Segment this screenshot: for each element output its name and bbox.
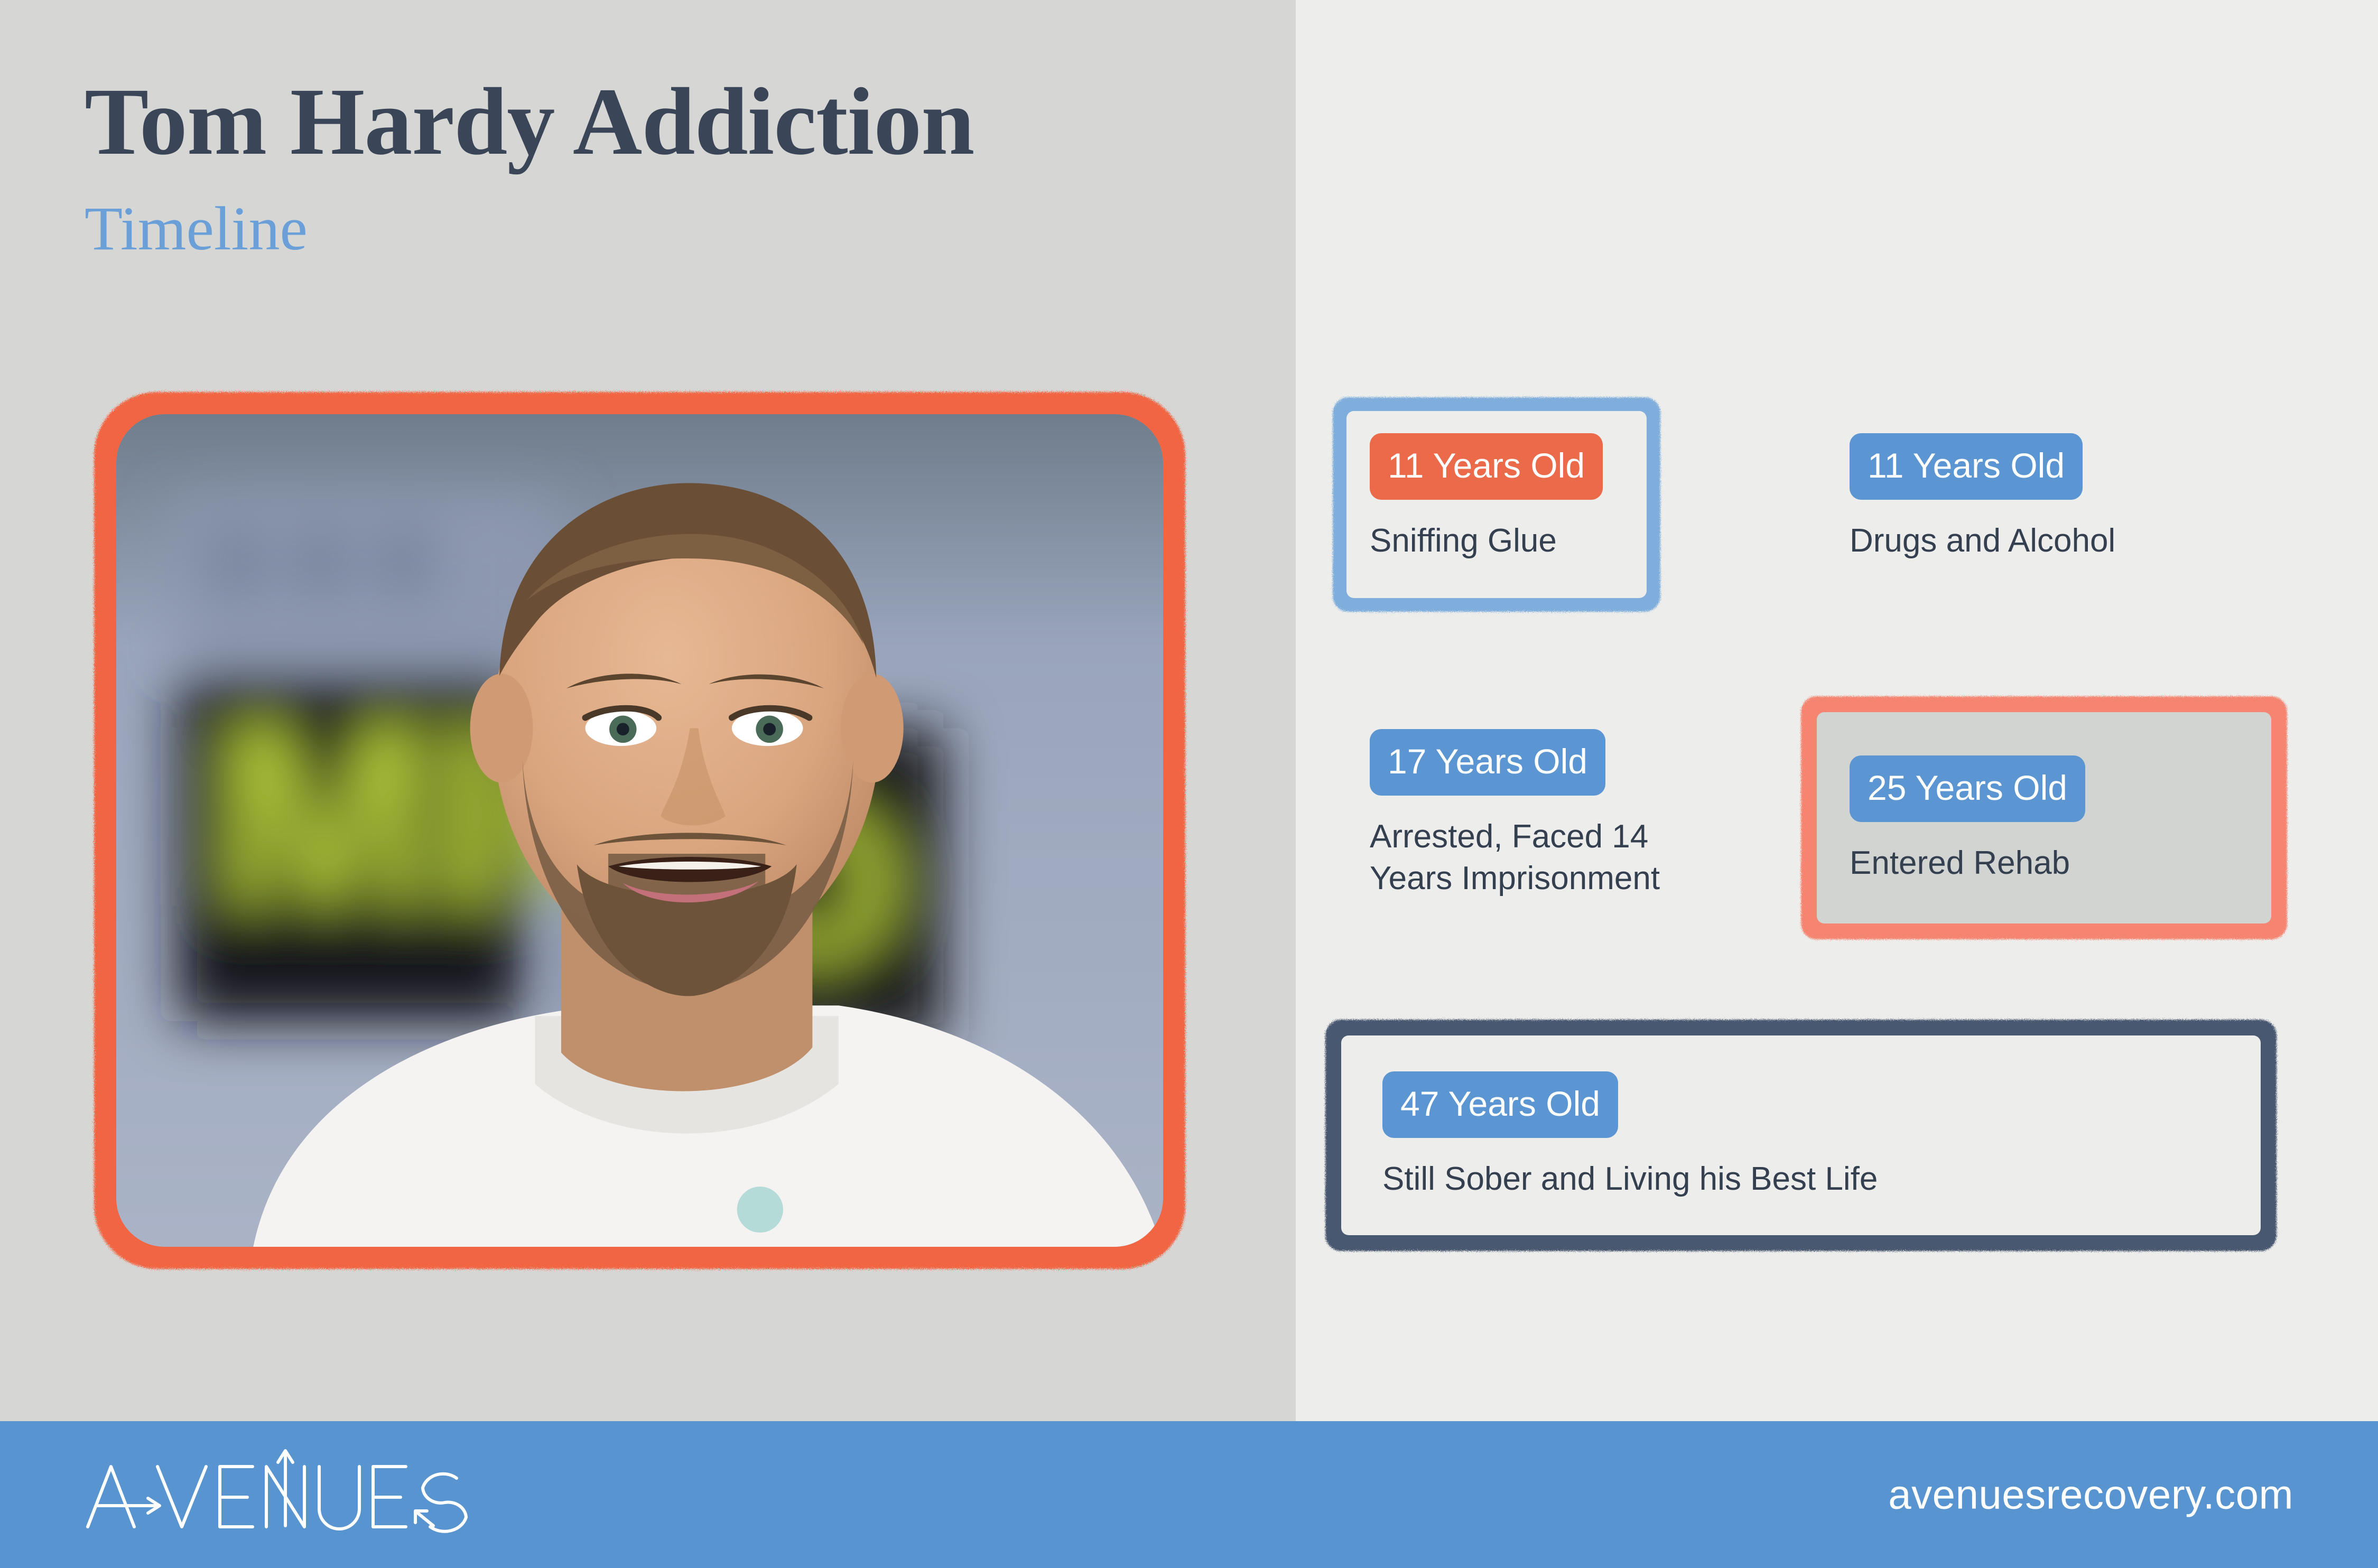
footer-bar: avenuesrecovery.com	[0, 1421, 2378, 1568]
card-description: Arrested, Faced 14 Years Imprisonment	[1370, 816, 1792, 900]
age-badge: 11 Years Old	[1370, 433, 1603, 500]
card-description: Drugs and Alcohol	[1850, 520, 2251, 562]
age-badge: 17 Years Old	[1370, 729, 1605, 796]
age-badge: 25 Years Old	[1850, 755, 2085, 822]
timeline-card-1: 11 Years Old Sniffing Glue	[1333, 397, 1660, 612]
age-badge: 11 Years Old	[1850, 433, 2083, 500]
card-description: Still Sober and Living his Best Life	[1382, 1158, 2245, 1200]
age-badge: 47 Years Old	[1382, 1071, 1618, 1138]
heading-block: Tom Hardy Addiction Timeline	[85, 74, 1247, 260]
page-title: Tom Hardy Addiction	[85, 74, 1247, 170]
card-description: Entered Rehab	[1850, 842, 2266, 884]
card-content: 11 Years Old Drugs and Alcohol	[1850, 433, 2251, 562]
avenues-logo-mark	[78, 1448, 480, 1543]
avenues-logo	[78, 1448, 480, 1543]
portrait-photo: MIC O	[116, 414, 1163, 1247]
website-url[interactable]: avenuesrecovery.com	[1888, 1471, 2293, 1519]
card-content: 25 Years Old Entered Rehab	[1850, 755, 2266, 884]
card-content: 17 Years Old Arrested, Faced 14 Years Im…	[1370, 729, 1792, 900]
card-description: Sniffing Glue	[1370, 520, 1639, 562]
timeline-card-5: 47 Years Old Still Sober and Living his …	[1325, 1020, 2277, 1251]
page-subtitle: Timeline	[85, 198, 1247, 260]
timeline-card-4: 25 Years Old Entered Rehab	[1801, 696, 2287, 939]
card-content: 11 Years Old Sniffing Glue	[1370, 433, 1639, 562]
infographic-canvas: Tom Hardy Addiction Timeline MIC O	[0, 0, 2378, 1568]
card-content: 47 Years Old Still Sober and Living his …	[1382, 1071, 2245, 1200]
portrait-photo-frame: MIC O	[94, 392, 1185, 1269]
portrait-photo-art: MIC O	[116, 414, 1163, 1247]
timeline-card-3: 17 Years Old Arrested, Faced 14 Years Im…	[1370, 729, 1792, 930]
timeline-card-2: 11 Years Old Drugs and Alcohol	[1850, 433, 2251, 586]
